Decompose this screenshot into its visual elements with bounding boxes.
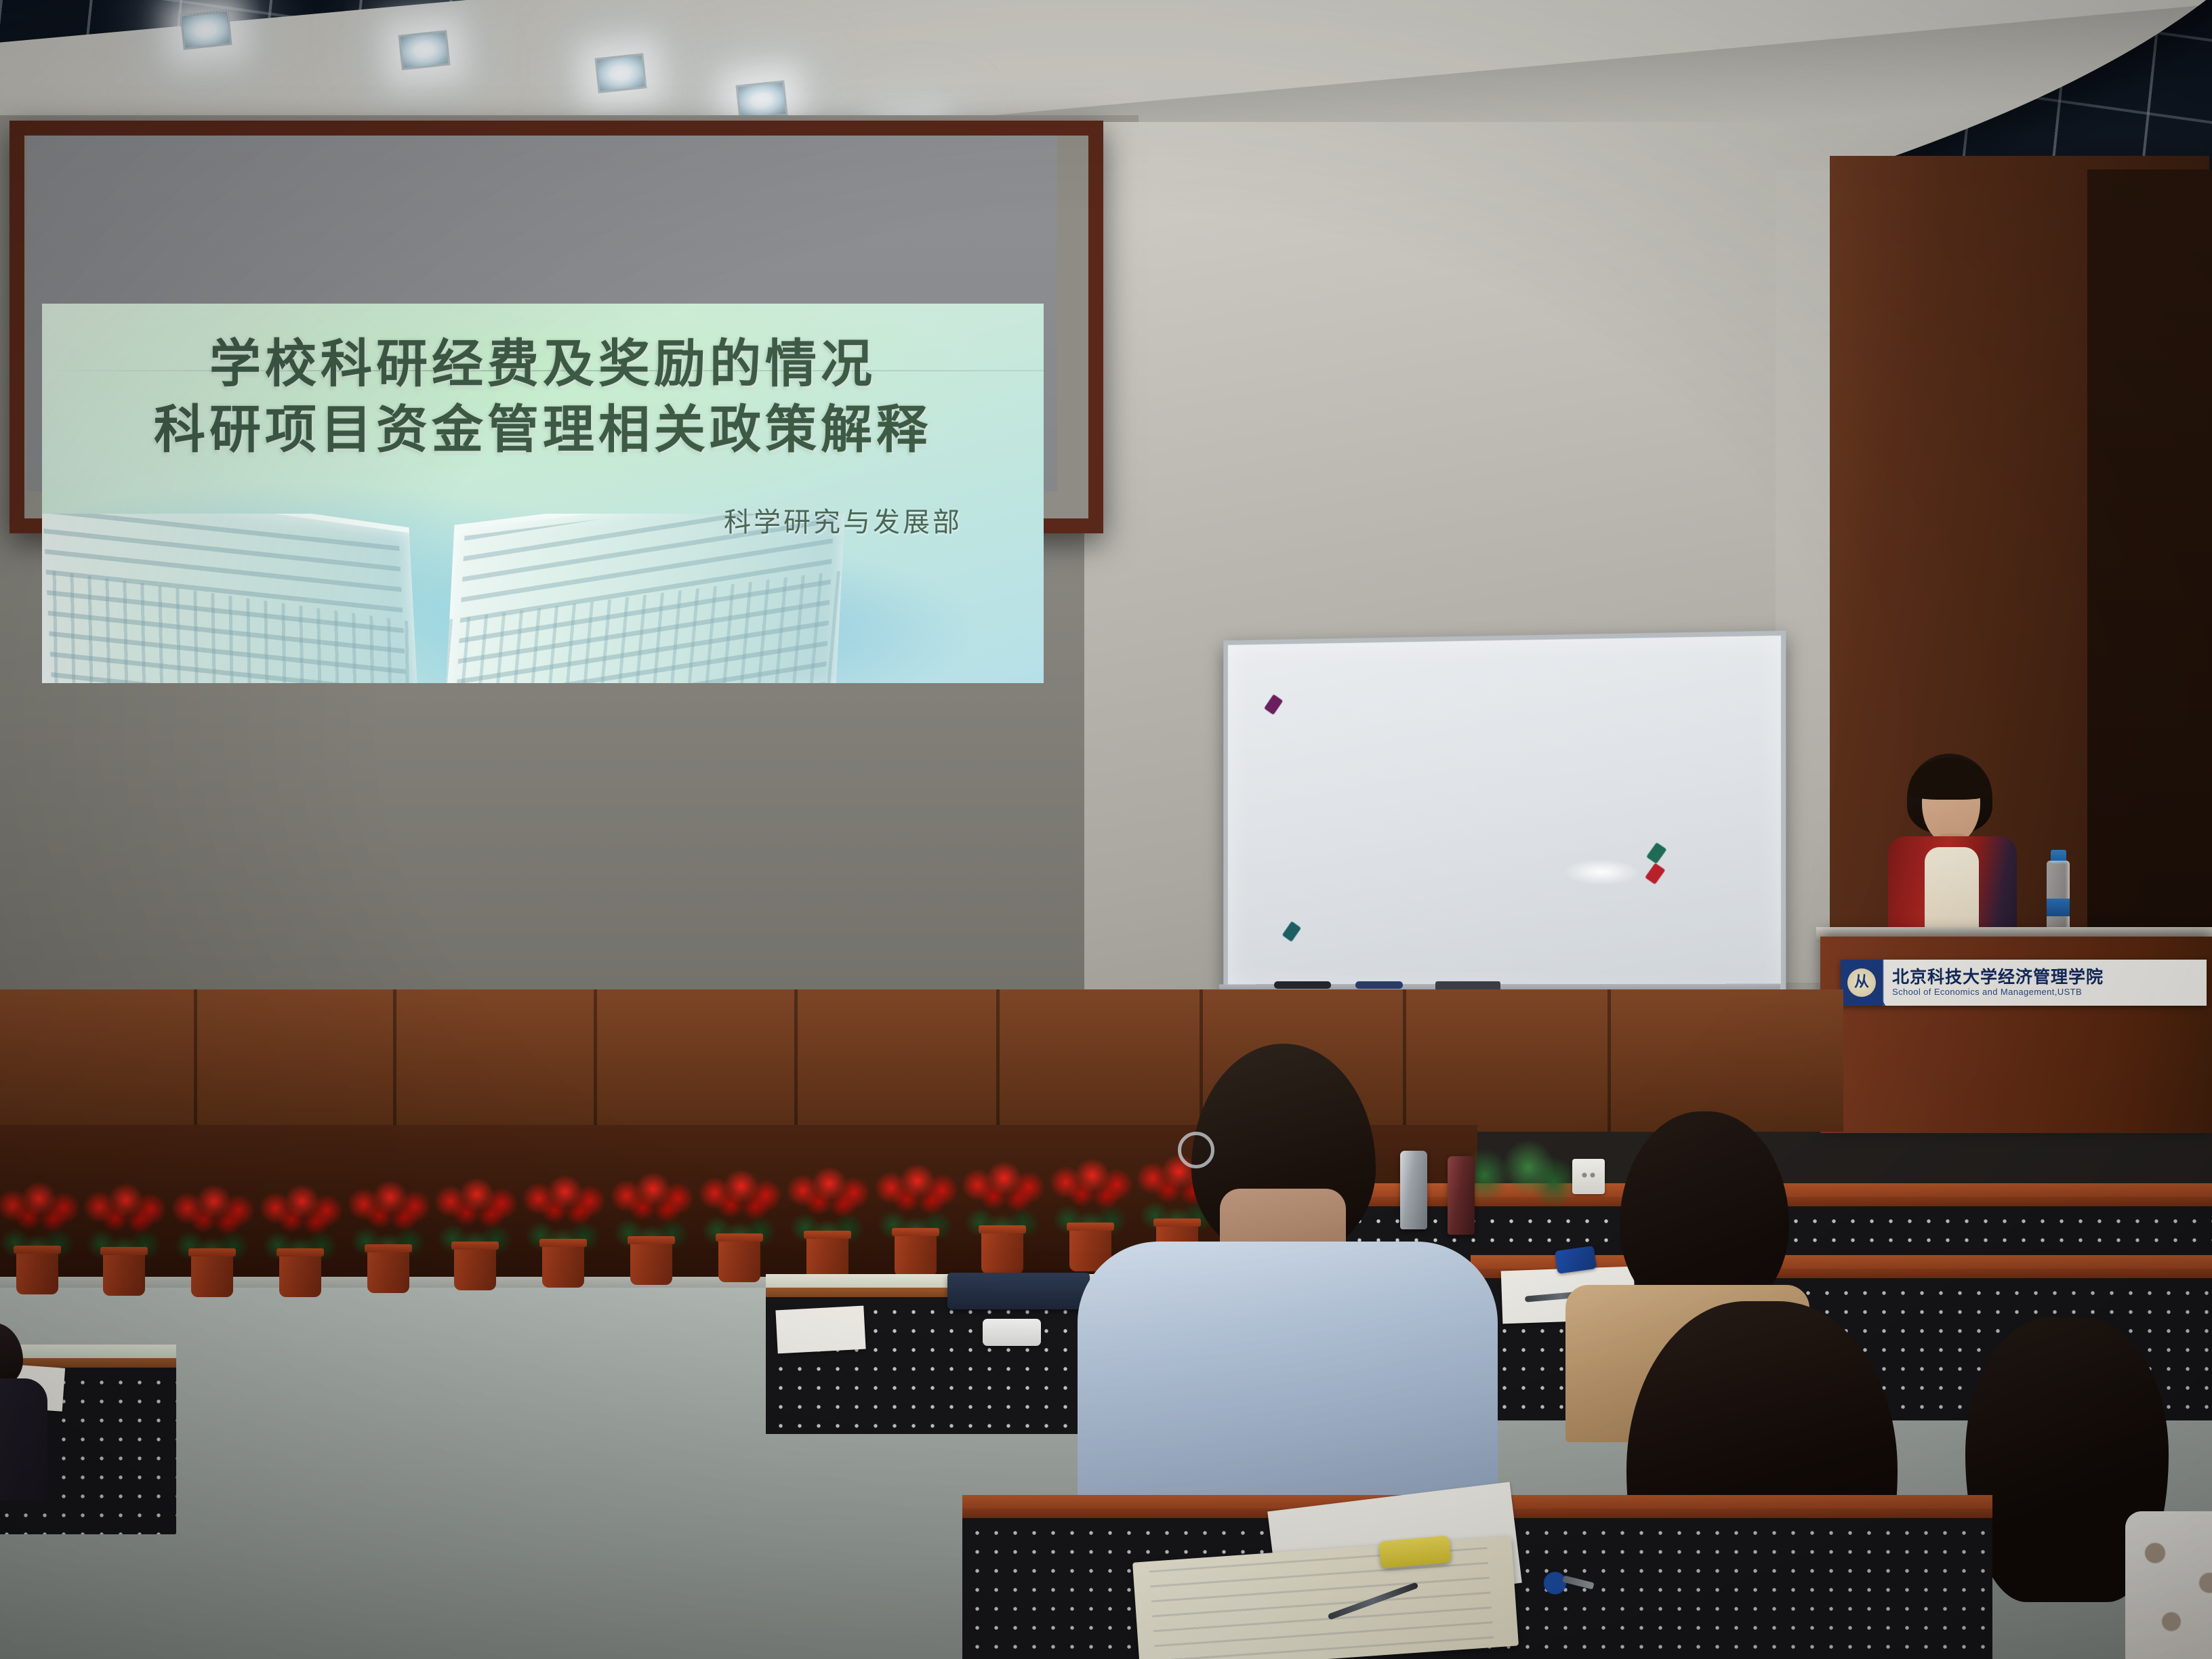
- speaker: [1868, 754, 2037, 940]
- water-bottle-label: [2047, 899, 2070, 916]
- water-bottle: [2047, 861, 2070, 931]
- person-woman-white-lace: [1959, 1317, 2212, 1659]
- ceiling-light-2: [398, 30, 450, 70]
- poinsettia-pot: [981, 1229, 1023, 1274]
- white-phone: [983, 1319, 1041, 1346]
- ceiling-light-4: [735, 80, 787, 120]
- poinsettia-3: [168, 1155, 256, 1297]
- magnet-purple: [1264, 694, 1283, 715]
- loose-papers-left: [775, 1306, 865, 1354]
- emblem-arc: [1872, 960, 1926, 1006]
- ustb-emblem-icon: 从: [1841, 960, 1883, 1006]
- slide-title-line-2: 科研项目资金管理相关政策解释: [42, 396, 1044, 462]
- wall-far-right-dark: [2087, 169, 2212, 1050]
- panel-divider-2: [393, 989, 396, 1132]
- panel-divider-8: [1607, 989, 1611, 1132]
- poinsettia-8: [607, 1149, 695, 1285]
- poinsettia-pot: [103, 1251, 145, 1296]
- poinsettia-2: [80, 1153, 168, 1296]
- poinsettia-pot: [718, 1237, 760, 1282]
- poinsettia-pot: [630, 1240, 672, 1285]
- presentation-slide: 学校科研经费及奖励的情况 科研项目资金管理相关政策解释 科学研究与发展部: [42, 304, 1044, 683]
- poinsettia-pot: [279, 1252, 321, 1297]
- tablet-folio: [947, 1273, 1090, 1309]
- slide-subtitle: 科学研究与发展部: [724, 500, 962, 539]
- whiteboard: [1223, 631, 1786, 1003]
- poinsettia-10: [783, 1147, 872, 1279]
- whiteboard-glare: [1563, 859, 1639, 886]
- woman-tan-hair: [1620, 1111, 1789, 1315]
- slide-title-block: 学校科研经费及奖励的情况 科研项目资金管理相关政策解释: [42, 331, 1044, 463]
- poinsettia-7: [519, 1151, 607, 1288]
- emblem-glyph: 从: [1847, 968, 1876, 997]
- poinsettia-pot: [806, 1235, 848, 1279]
- poinsettia-pot: [191, 1252, 233, 1297]
- poinsettia-11: [872, 1145, 960, 1277]
- keys-with-blue-fob: [1542, 1570, 1587, 1597]
- woman-white-lace-top: [2125, 1511, 2212, 1659]
- panel-divider-4: [794, 989, 798, 1132]
- poinsettia-pot: [16, 1250, 58, 1294]
- panel-divider-1: [194, 989, 197, 1132]
- speaker-fringe: [1908, 758, 1991, 800]
- poinsettia-5: [344, 1153, 432, 1293]
- person-far-left-torso: [0, 1378, 47, 1500]
- poinsettia-9: [695, 1148, 783, 1282]
- poinsettia-1: [0, 1152, 81, 1294]
- marker-blue: [1355, 981, 1403, 989]
- podium-sign: 从 北京科技大学经济管理学院 School of Economics and M…: [1841, 960, 2207, 1006]
- podium-sign-chinese: 北京科技大学经济管理学院: [1892, 968, 2104, 986]
- lecture-hall-photo: 学校科研经费及奖励的情况 科研项目资金管理相关政策解释 科学研究与发展部 从 北…: [0, 0, 2212, 1659]
- magnet-green: [1646, 842, 1666, 864]
- poinsettia-pot: [895, 1232, 937, 1277]
- panel-divider-5: [996, 989, 1000, 1132]
- poinsettia-6: [431, 1152, 519, 1290]
- slide-artwork-tower-left: [42, 514, 420, 683]
- poinsettia-pot: [542, 1243, 584, 1288]
- marker-black: [1274, 981, 1331, 989]
- magnet-teal: [1282, 921, 1301, 942]
- poinsettia-pot: [367, 1248, 409, 1293]
- ceiling-light-3: [594, 53, 647, 93]
- panel-divider-3: [594, 989, 597, 1132]
- glasses-icon: [1178, 1132, 1214, 1168]
- person-man-blue-shirt: [1078, 1044, 1498, 1545]
- person-far-left: [0, 1308, 61, 1498]
- stage-front-panel: [0, 989, 1843, 1132]
- poinsettia-pot: [454, 1246, 496, 1290]
- poinsettia-12: [958, 1144, 1046, 1274]
- magnet-red: [1645, 863, 1665, 884]
- slide-title-line-1: 学校科研经费及奖励的情况: [42, 331, 1044, 396]
- ceiling-light-1: [180, 9, 232, 49]
- poinsettia-4: [256, 1156, 344, 1297]
